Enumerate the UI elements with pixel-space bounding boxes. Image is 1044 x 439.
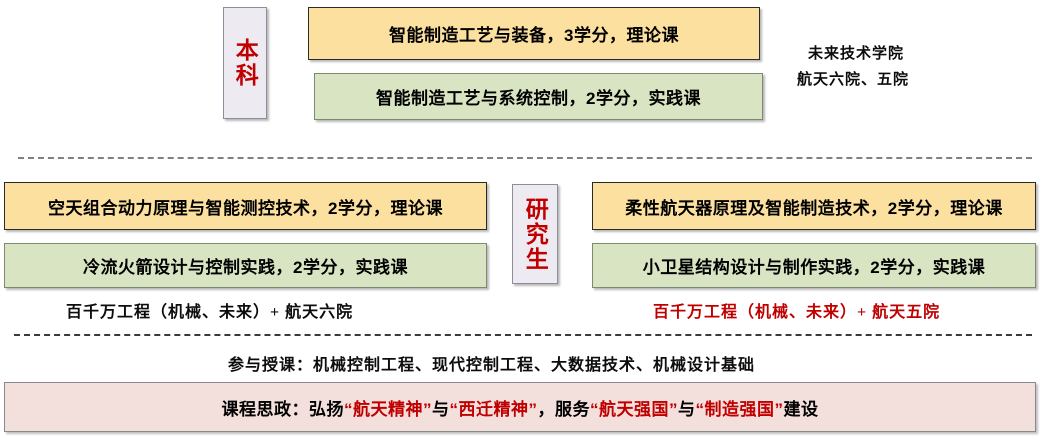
- course-box-undergrad-practice: 智能制造工艺与系统控制，2学分，实践课: [314, 73, 763, 120]
- banner-text: 课程思政：弘扬“航天精神”与“西迁精神”，服务“航天强国”与“制造强国”建设: [222, 395, 819, 420]
- banner-suffix: 建设: [784, 400, 819, 419]
- annotation-undergrad-line1: 未来技术学院: [808, 42, 904, 63]
- curriculum-diagram: 本科 智能制造工艺与装备，3学分，理论课 智能制造工艺与系统控制，2学分，实践课…: [0, 0, 1044, 439]
- stage-label-graduate: 研究生: [512, 184, 558, 284]
- banner-middle-2: ，服务: [538, 400, 591, 419]
- divider-undergrad-graduate: [18, 157, 1032, 159]
- course-box-undergrad-theory: 智能制造工艺与装备，3学分，理论课: [308, 7, 760, 60]
- divider-graduate-footer: [14, 334, 1032, 336]
- course-box-graduate-right-practice: 小卫星结构设计与制作实践，2学分，实践课: [592, 243, 1036, 288]
- banner-quote-aerospace-spirit: “航天精神”: [344, 400, 432, 419]
- banner-quote-xiqian-spirit: “西迁精神”: [450, 400, 538, 419]
- stage-label-undergraduate: 本科: [223, 7, 267, 119]
- course-box-graduate-left-practice: 冷流火箭设计与控制实践，2学分，实践课: [4, 243, 487, 288]
- banner-middle-1: 与: [432, 400, 450, 419]
- footnote-graduate-left: 百千万工程（机械、未来）+ 航天六院: [66, 298, 353, 322]
- annotation-undergrad-line2: 航天六院、五院: [797, 68, 909, 89]
- course-box-graduate-right-theory: 柔性航天器原理及智能制造技术，2学分，理论课: [592, 182, 1036, 230]
- banner-prefix: 课程思政：弘扬: [222, 400, 345, 419]
- course-box-graduate-left-theory: 空天组合动力原理与智能测控技术，2学分，理论课: [4, 182, 487, 230]
- ideological-education-banner: 课程思政：弘扬“航天精神”与“西迁精神”，服务“航天强国”与“制造强国”建设: [4, 382, 1036, 432]
- banner-middle-3: 与: [678, 400, 696, 419]
- footnote-graduate-right: 百千万工程（机械、未来）+ 航天五院: [653, 298, 940, 322]
- banner-quote-manufacturing-power: “制造强国”: [696, 400, 784, 419]
- teaching-participation-note: 参与授课：机械控制工程、现代控制工程、大数据技术、机械设计基础: [228, 351, 755, 375]
- banner-quote-aerospace-power: “航天强国”: [590, 400, 678, 419]
